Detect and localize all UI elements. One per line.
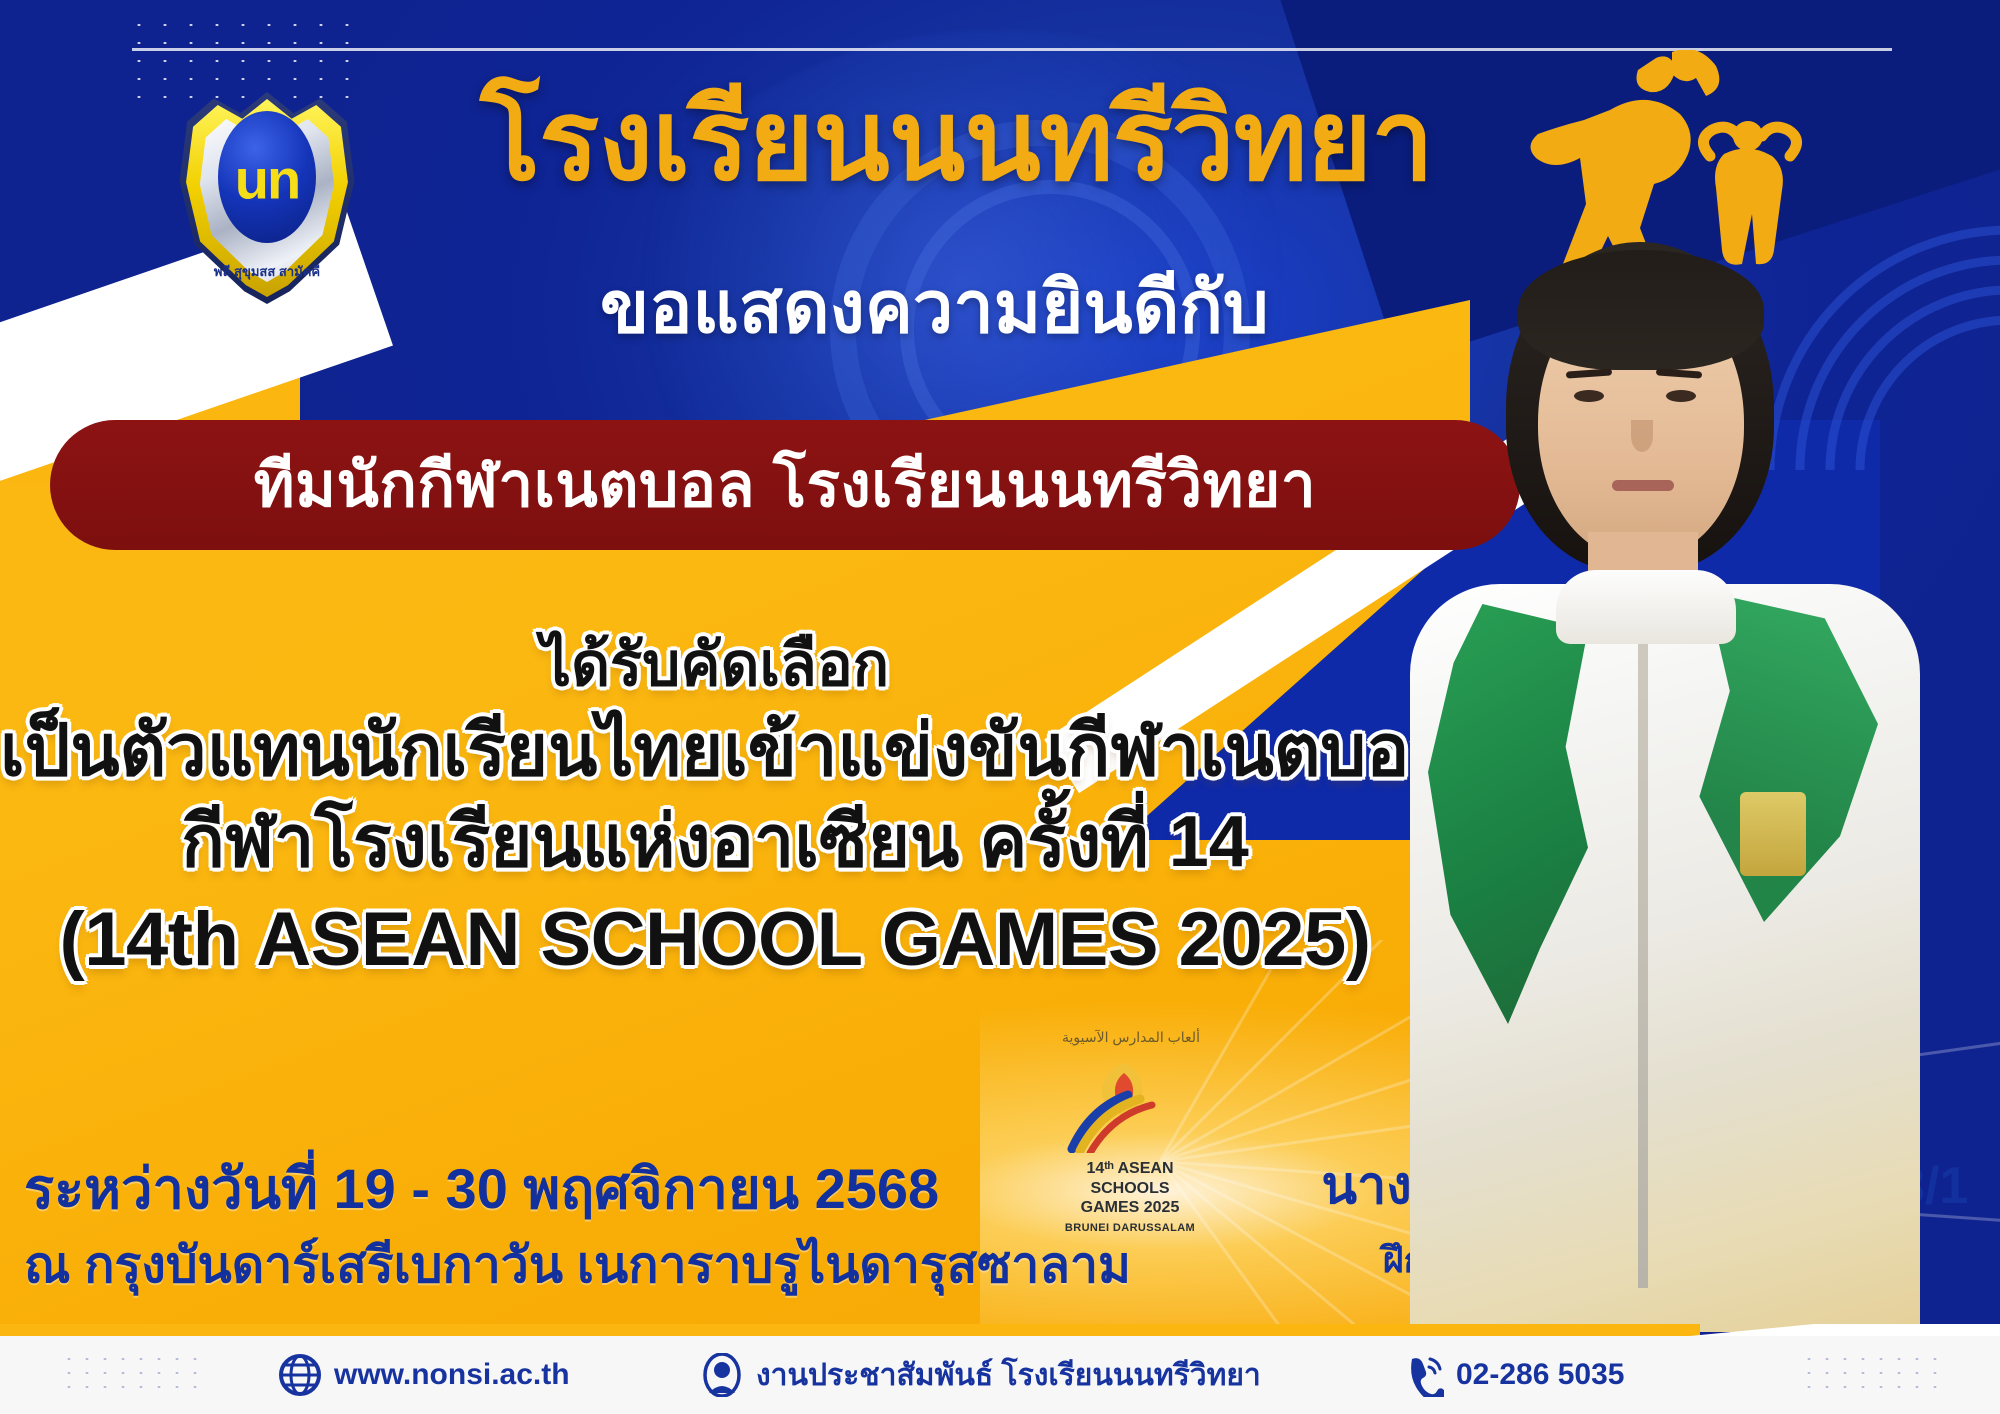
event-dates: ระหว่างวันที่ 19 - 30 พฤศจิกายน 2568	[24, 1155, 1024, 1223]
photo-jacket-zipper	[1638, 588, 1648, 1288]
asg-arabic-text: ألعاب المدارس الآسيوية	[1046, 1029, 1216, 1046]
photo-fringe	[1518, 250, 1764, 370]
phone-icon	[1400, 1353, 1444, 1397]
page-title: โรงเรียนนนทรีวิทยา	[480, 82, 1540, 200]
event-details: ระหว่างวันที่ 19 - 30 พฤศจิกายน 2568 ณ ก…	[24, 1155, 1024, 1296]
asg-line-1: 14ᵗʰ ASEAN	[1040, 1159, 1220, 1179]
footer-dots-left	[60, 1352, 200, 1396]
school-logo: un พลี สุขุมสส สามัคคี	[172, 92, 362, 304]
photo-jacket-collar	[1556, 570, 1736, 644]
footer-pr: งานประชาสัมพันธ์ โรงเรียนนนทรีวิทยา	[700, 1352, 1261, 1399]
team-name-banner: ทีมนักกีฬาเนตบอล โรงเรียนนนทรีวิทยา	[50, 420, 1520, 550]
achievement-line-2: เป็นตัวแทนนักเรียนไทยเข้าแข่งขันกีฬาเนตบ…	[0, 709, 1430, 794]
footer-dots-right	[1800, 1352, 1940, 1396]
photo-eye-left	[1574, 390, 1604, 402]
athlete-photo	[1388, 232, 1948, 1332]
footer-website[interactable]: www.nonsi.ac.th	[278, 1353, 570, 1397]
asg-line-2: SCHOOLS	[1040, 1179, 1220, 1199]
achievement-line-1: ได้รับคัดเลือก	[0, 630, 1430, 701]
achievement-line-3: กีฬาโรงเรียนแห่งอาเซียน ครั้งที่ 14	[0, 800, 1430, 885]
photo-nose	[1631, 420, 1653, 452]
logo-motto: พลี สุขุมสส สามัคคี	[214, 261, 320, 282]
footer-phone[interactable]: 02-286 5035	[1400, 1353, 1625, 1397]
team-name-text: ทีมนักกีฬาเนตบอล โรงเรียนนนทรีวิทยา	[254, 436, 1316, 534]
footer-bar: www.nonsi.ac.th งานประชาสัมพันธ์ โรงเรีย…	[0, 1336, 2000, 1414]
asg-logo-text: 14ᵗʰ ASEAN SCHOOLS GAMES 2025 BRUNEI DAR…	[1040, 1159, 1220, 1235]
footer-website-text: www.nonsi.ac.th	[334, 1358, 570, 1392]
achievement-text-block: ได้รับคัดเลือก เป็นตัวแทนนักเรียนไทยเข้า…	[0, 630, 1430, 984]
photo-eye-right	[1666, 390, 1696, 402]
asean-school-games-logo: ألعاب المدارس الآسيوية 14ᵗʰ ASEAN SCHOOL…	[1040, 1055, 1220, 1255]
footer-phone-text: 02-286 5035	[1456, 1358, 1625, 1392]
achievement-line-4: (14th ASEAN SCHOOL GAMES 2025)	[0, 895, 1430, 985]
event-venue: ณ กรุงบันดาร์เสรีเบกาวัน เนการาบรูไนดารุ…	[24, 1235, 1024, 1296]
page-subtitle: ขอแสดงความยินดีกับ	[600, 272, 1460, 344]
asg-line-3: GAMES 2025	[1040, 1198, 1220, 1218]
person-icon	[700, 1353, 744, 1397]
footer-accent-bar	[0, 1324, 1700, 1336]
asg-line-4: BRUNEI DARUSSALAM	[1040, 1222, 1220, 1235]
footer-pr-text: งานประชาสัมพันธ์ โรงเรียนนนทรีวิทยา	[756, 1352, 1261, 1399]
photo-jacket-emblem	[1740, 792, 1806, 876]
photo-mouth	[1612, 480, 1674, 491]
asg-flame-icon	[1066, 1057, 1184, 1153]
globe-icon	[278, 1353, 322, 1397]
logo-initials: un	[235, 146, 299, 211]
poster-root: un พลี สุขุมสส สามัคคี โรงเรียนนนทรีวิทย…	[0, 0, 2000, 1414]
